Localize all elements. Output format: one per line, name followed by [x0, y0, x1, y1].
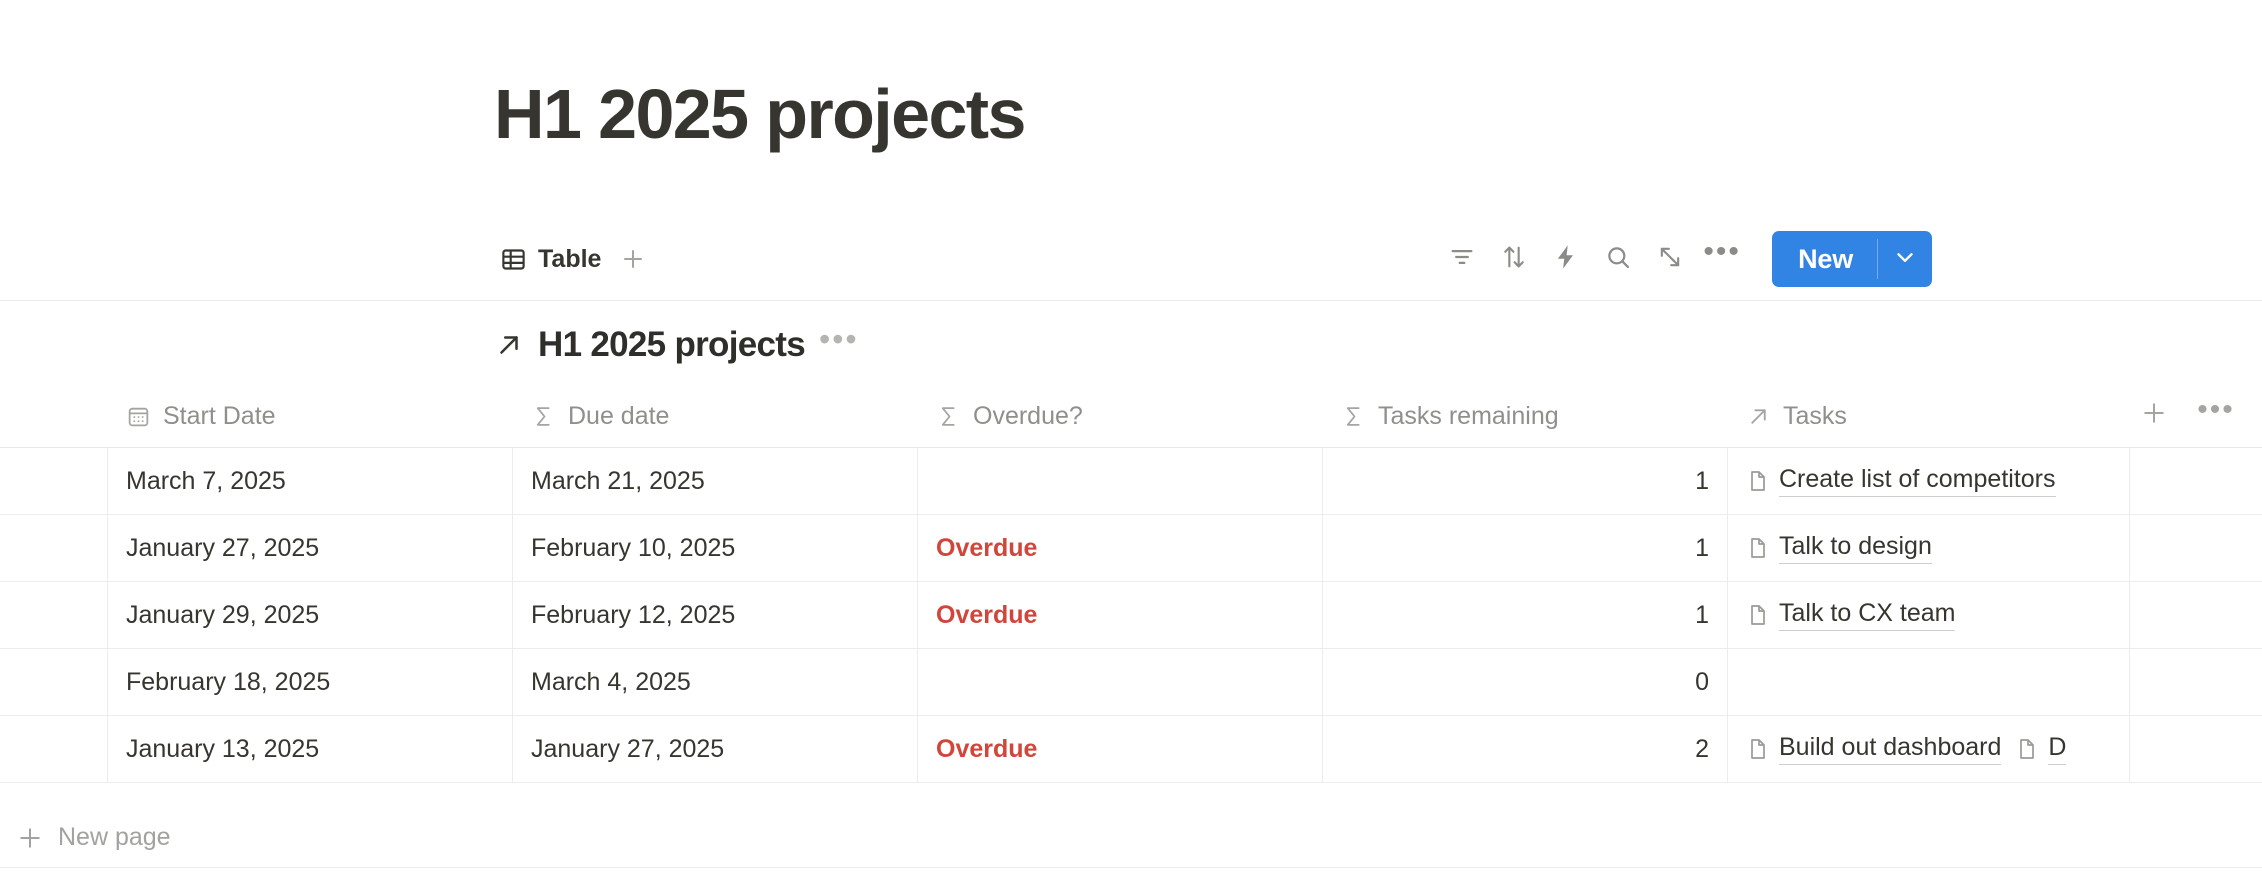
table-header-row: Start Date Due date: [0, 386, 2262, 448]
search-button[interactable]: [1592, 235, 1644, 283]
calendar-icon: [126, 404, 151, 429]
relation-chip[interactable]: Create list of competitors: [1746, 465, 2056, 497]
relation-chip-list: Talk to CX team: [1746, 599, 1955, 631]
formula-icon: [936, 404, 961, 429]
cell-start-date[interactable]: March 7, 2025: [108, 448, 513, 514]
cell-overdue[interactable]: [918, 649, 1323, 715]
page-icon: [2015, 737, 2039, 761]
cell-tasks[interactable]: Build out dashboard D: [1728, 716, 2130, 782]
cell-due-date[interactable]: March 21, 2025: [513, 448, 918, 514]
column-header-tasks[interactable]: Tasks: [1728, 386, 2130, 447]
column-header-label: Tasks: [1783, 402, 1847, 431]
new-page-label: New page: [58, 823, 171, 852]
cell-tasks-remaining[interactable]: 0: [1323, 649, 1728, 715]
row-gutter[interactable]: [0, 649, 108, 715]
cell-due-date[interactable]: February 10, 2025: [513, 515, 918, 581]
row-gutter-header: [0, 386, 108, 447]
sort-icon: [1500, 243, 1528, 276]
view-toolbar-actions: ••• New: [1436, 231, 1932, 287]
table-icon: [500, 246, 527, 273]
cell-tasks[interactable]: Talk to design: [1728, 515, 2130, 581]
cell-overdue[interactable]: Overdue: [918, 515, 1323, 581]
automation-button[interactable]: [1540, 235, 1592, 283]
row-gutter[interactable]: [0, 515, 108, 581]
row-gutter[interactable]: [0, 716, 108, 782]
table-header: Start Date Due date: [0, 386, 2262, 448]
page-title[interactable]: H1 2025 projects: [494, 72, 1025, 156]
new-button[interactable]: New: [1772, 231, 1932, 287]
column-header-label: Start Date: [163, 402, 276, 431]
relation-chip-list: Create list of competitors: [1746, 465, 2056, 497]
toolbar-divider: [0, 300, 2262, 301]
new-button-dropdown[interactable]: [1878, 231, 1932, 287]
table-body: March 7, 2025 March 21, 2025 1 Create li…: [0, 448, 2262, 783]
column-header-label: Overdue?: [973, 402, 1083, 431]
relation-chip-list: Build out dashboard D: [1746, 733, 2066, 765]
new-page-button[interactable]: New page: [0, 808, 2262, 868]
database-options-button[interactable]: •••: [819, 332, 859, 358]
database-title-row: H1 2025 projects •••: [494, 325, 859, 365]
cell-tail: [2130, 515, 2262, 581]
plus-icon: [16, 824, 44, 852]
cell-start-date[interactable]: January 13, 2025: [108, 716, 513, 782]
expand-button[interactable]: [1644, 235, 1696, 283]
relation-chip[interactable]: D: [2015, 733, 2066, 765]
relation-chip[interactable]: Build out dashboard: [1746, 733, 2001, 765]
relation-chip-list: Talk to design: [1746, 532, 1932, 564]
cell-due-date[interactable]: February 12, 2025: [513, 582, 918, 648]
filter-icon: [1448, 243, 1476, 276]
database-title[interactable]: H1 2025 projects: [538, 325, 805, 365]
cell-start-date[interactable]: February 18, 2025: [108, 649, 513, 715]
relation-chip-label: Talk to CX team: [1779, 599, 1955, 631]
cell-due-date[interactable]: March 4, 2025: [513, 649, 918, 715]
add-column-button[interactable]: [2134, 397, 2174, 437]
arrow-up-right-icon: [494, 330, 524, 360]
table-row: January 29, 2025 February 12, 2025 Overd…: [0, 582, 2262, 649]
more-options-button[interactable]: •••: [1696, 235, 1748, 283]
tab-table[interactable]: Table: [494, 241, 607, 278]
database-table: Start Date Due date: [0, 386, 2262, 783]
column-header-start-date[interactable]: Start Date: [108, 386, 513, 447]
tab-table-label: Table: [538, 245, 601, 274]
sort-button[interactable]: [1488, 235, 1540, 283]
new-button-label: New: [1772, 231, 1877, 287]
page-icon: [1746, 469, 1770, 493]
cell-tail: [2130, 649, 2262, 715]
column-header-label: Due date: [568, 402, 669, 431]
chevron-down-icon: [1892, 244, 1918, 275]
cell-overdue[interactable]: [918, 448, 1323, 514]
page-icon: [1746, 536, 1770, 560]
search-icon: [1604, 243, 1632, 276]
column-header-due-date[interactable]: Due date: [513, 386, 918, 447]
relation-chip-label: Create list of competitors: [1779, 465, 2056, 497]
add-view-button[interactable]: [613, 239, 653, 279]
plus-icon: [2140, 399, 2168, 434]
relation-chip-label: Build out dashboard: [1779, 733, 2001, 765]
cell-overdue[interactable]: Overdue: [918, 582, 1323, 648]
formula-icon: [1341, 404, 1366, 429]
cell-overdue[interactable]: Overdue: [918, 716, 1323, 782]
page-icon: [1746, 603, 1770, 627]
view-toolbar: Table: [494, 228, 1932, 290]
column-header-tasks-remaining[interactable]: Tasks remaining: [1323, 386, 1728, 447]
expand-icon: [1656, 243, 1684, 276]
formula-icon: [531, 404, 556, 429]
cell-tasks[interactable]: Create list of competitors: [1728, 448, 2130, 514]
cell-tasks-remaining[interactable]: 1: [1323, 448, 1728, 514]
cell-due-date[interactable]: January 27, 2025: [513, 716, 918, 782]
table-row: February 18, 2025 March 4, 2025 0: [0, 649, 2262, 716]
cell-start-date[interactable]: January 29, 2025: [108, 582, 513, 648]
relation-icon: [1746, 404, 1771, 429]
table-header-actions: •••: [2130, 386, 2262, 447]
table-row: March 7, 2025 March 21, 2025 1 Create li…: [0, 448, 2262, 515]
cell-tasks-remaining[interactable]: 1: [1323, 515, 1728, 581]
notion-database-page: H1 2025 projects Table: [0, 0, 2262, 886]
cell-tail: [2130, 448, 2262, 514]
view-tabs: Table: [494, 239, 653, 279]
relation-chip-label: D: [2048, 733, 2066, 765]
cell-tasks[interactable]: Talk to CX team: [1728, 582, 2130, 648]
row-gutter[interactable]: [0, 582, 108, 648]
cell-tasks-remaining[interactable]: 1: [1323, 582, 1728, 648]
table-options-button[interactable]: •••: [2196, 397, 2236, 437]
cell-tasks[interactable]: [1728, 649, 2130, 715]
table-row: January 13, 2025 January 27, 2025 Overdu…: [0, 716, 2262, 783]
column-header-label: Tasks remaining: [1378, 402, 1559, 431]
cell-tasks-remaining[interactable]: 2: [1323, 716, 1728, 782]
cell-tail: [2130, 716, 2262, 782]
row-gutter[interactable]: [0, 448, 108, 514]
cell-start-date[interactable]: January 27, 2025: [108, 515, 513, 581]
relation-chip[interactable]: Talk to CX team: [1746, 599, 1955, 631]
automation-icon: [1552, 243, 1580, 276]
relation-chip-label: Talk to design: [1779, 532, 1932, 564]
relation-chip[interactable]: Talk to design: [1746, 532, 1932, 564]
column-header-overdue[interactable]: Overdue?: [918, 386, 1323, 447]
table-row: January 27, 2025 February 10, 2025 Overd…: [0, 515, 2262, 582]
filter-button[interactable]: [1436, 235, 1488, 283]
more-options-icon: •••: [1703, 246, 1741, 258]
page-icon: [1746, 737, 1770, 761]
cell-tail: [2130, 582, 2262, 648]
